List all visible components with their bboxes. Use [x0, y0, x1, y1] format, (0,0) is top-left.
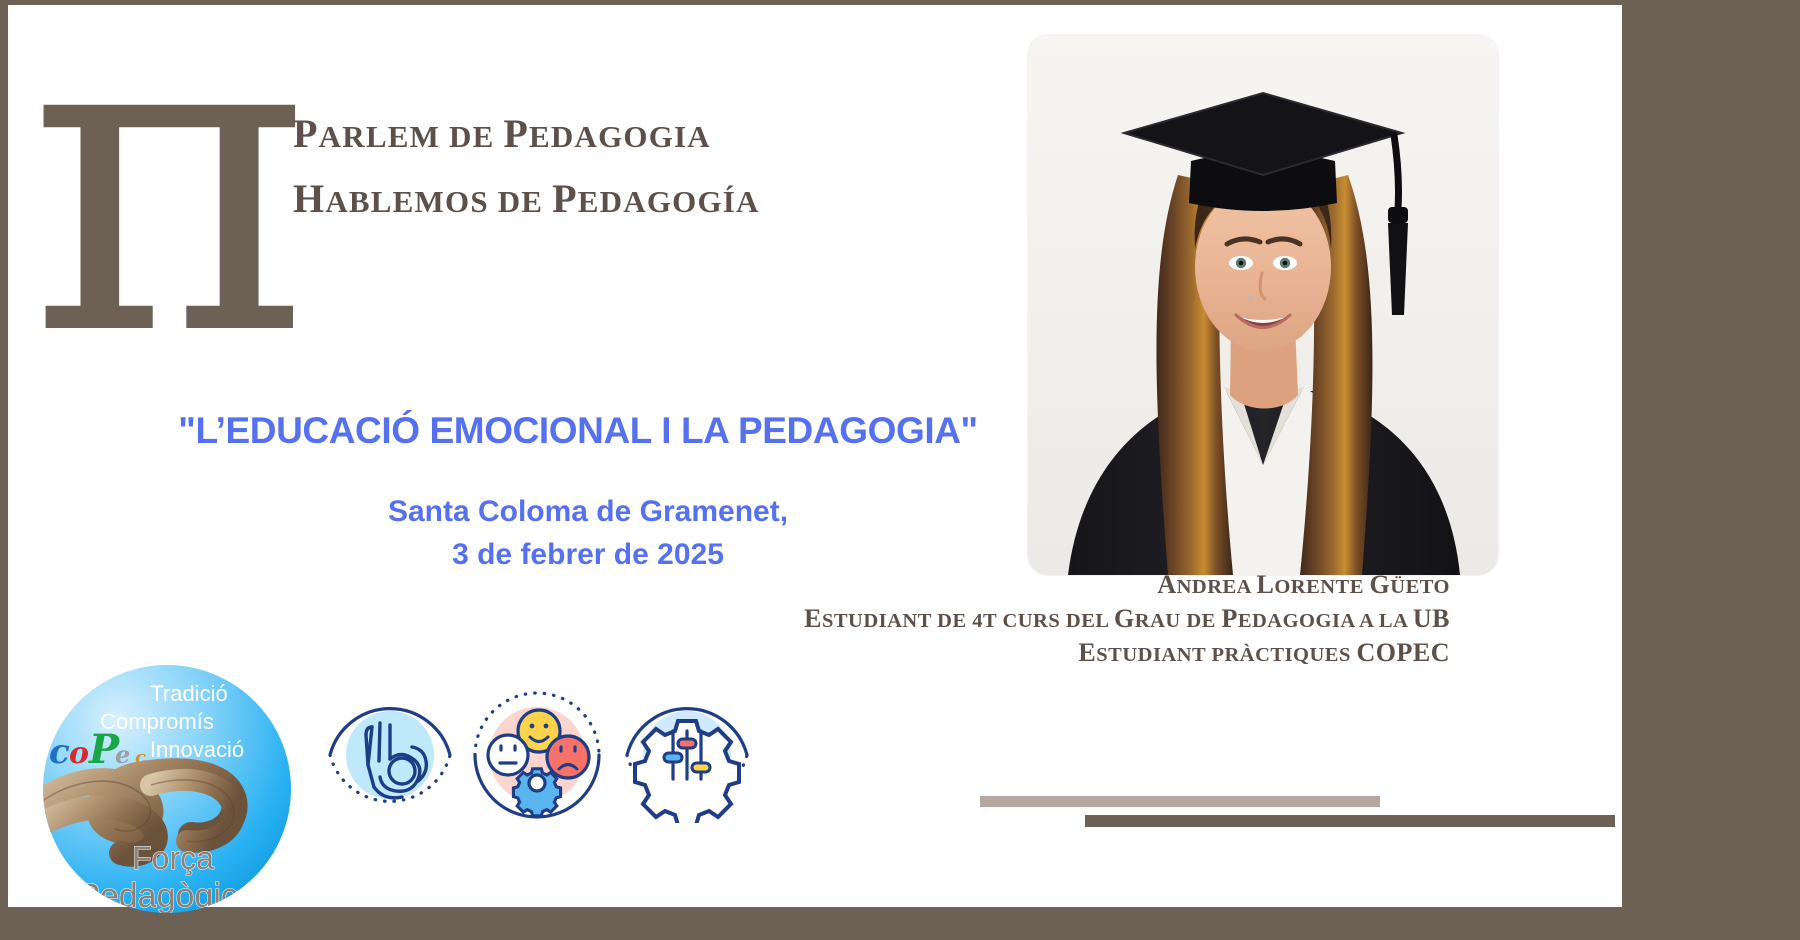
speaker-name-a: A [1157, 570, 1176, 599]
copec-logo: Tradició Compromís Innovació c o P e c [41, 663, 293, 915]
gear-sliders-icon [613, 643, 761, 823]
copec-motto-2: Pedagògica [77, 877, 257, 915]
role2-copec: COPEC [1357, 638, 1451, 667]
speaker-name-ueto: ÜETO [1390, 576, 1450, 598]
svg-text:o: o [69, 736, 89, 771]
role1-rau: RAU DE [1135, 610, 1222, 632]
header-cat-p3: P [503, 111, 529, 156]
copec-motto-1: Força [132, 840, 214, 876]
speaker-name: ANDREA LORENTE GÜETO [690, 570, 1450, 604]
header-cat-p1: P [293, 111, 319, 156]
role1-p: P [1221, 604, 1237, 633]
icon-badges-row [308, 643, 778, 823]
header-titles: PARLEM DE PEDAGOGIA HABLEMOS DE PEDAGOGÍ… [293, 110, 913, 222]
header-esp-r1: ABLEMOS [325, 184, 488, 219]
role1-g: G [1114, 604, 1135, 633]
copec-tagline-3: Innovació [150, 737, 244, 762]
header-cat-p2: DE [440, 119, 503, 154]
decorative-bar-light [980, 796, 1380, 807]
speaker-role-line-2: ESTUDIANT PRÀCTIQUES COPEC [690, 638, 1450, 672]
header-esp-p3: P [552, 176, 578, 221]
speaker-name-l: L [1256, 570, 1274, 599]
header-esp-r3: EDAGOGÍA [578, 184, 760, 219]
role2-studiant: STUDIANT PRÀCTIQUES [1096, 644, 1356, 666]
emotion-faces-gear-icon [463, 643, 611, 823]
header-title-spanish: HABLEMOS DE PEDAGOGÍA [293, 175, 913, 222]
role2-e: E [1078, 638, 1096, 667]
header-esp-p2: DE [489, 184, 552, 219]
header-title-catalan: PARLEM DE PEDAGOGIA [293, 110, 913, 157]
speaker-name-ndrea: NDREA [1177, 576, 1257, 598]
slide-canvas: π PARLEM DE PEDAGOGIA HABLEMOS DE PEDAGO… [0, 0, 1627, 912]
role1-edagogia: EDAGOGIA A LA [1238, 610, 1413, 632]
session-title: "L’EDUCACIÓ EMOCIONAL I LA PEDAGOGIA" [128, 410, 1028, 452]
speaker-role-line-1: ESTUDIANT DE 4T CURS DEL GRAU DE PEDAGOG… [690, 604, 1450, 638]
decorative-bar-dark [1085, 815, 1615, 827]
speaker-photo [1028, 35, 1498, 575]
speaker-credentials: ANDREA LORENTE GÜETO ESTUDIANT DE 4T CUR… [690, 570, 1450, 672]
speaker-name-g: G [1370, 570, 1391, 599]
event-place: Santa Coloma de Gramenet, [188, 490, 988, 533]
role1-ub: UB [1413, 604, 1450, 633]
ok-hand-icon [316, 643, 464, 823]
header-cat-r1: ARLEM [319, 119, 440, 154]
role1-e: E [804, 604, 822, 633]
header-cat-r3: EDAGOGIA [529, 119, 711, 154]
copec-tagline-1: Tradició [150, 681, 227, 706]
svg-text:c: c [49, 732, 70, 772]
event-place-date: Santa Coloma de Gramenet, 3 de febrer de… [188, 490, 988, 576]
role1-studiant: STUDIANT DE 4T CURS DEL [822, 610, 1114, 632]
speaker-name-orente: ORENTE [1274, 576, 1369, 598]
header-esp-p1: H [293, 176, 325, 221]
